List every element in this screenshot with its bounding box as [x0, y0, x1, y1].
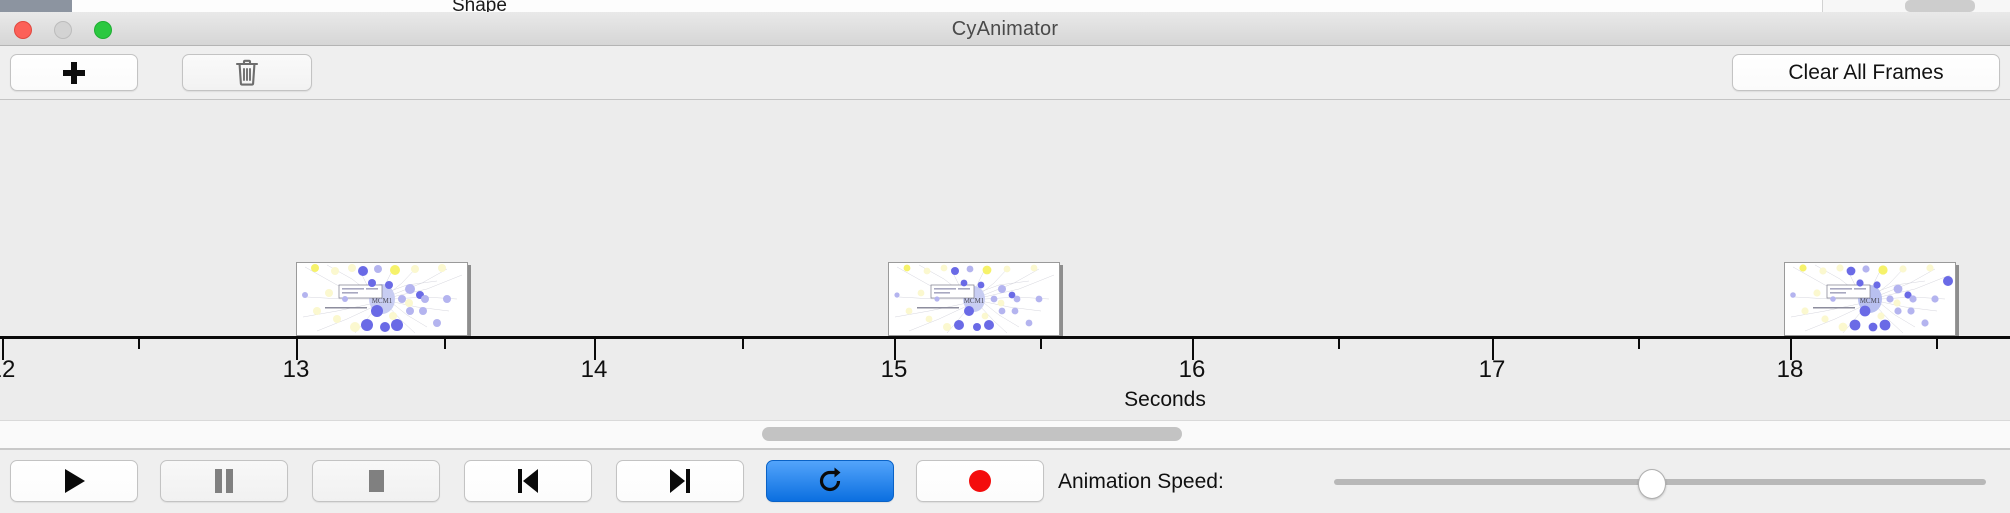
- pause-button[interactable]: [160, 460, 288, 502]
- cyanimator-window: CyAnimator Clear All Frames: [0, 12, 2010, 510]
- background-cell: [732, 0, 923, 12]
- pause-icon: [212, 467, 236, 495]
- timeline-scrollbar[interactable]: [0, 420, 2010, 449]
- toolbar: Clear All Frames: [0, 46, 2010, 100]
- play-icon: [61, 467, 87, 495]
- frame-thumbnail-2[interactable]: MCM1: [888, 262, 1060, 336]
- background-cell: [72, 0, 193, 12]
- skip-forward-icon: [667, 467, 693, 495]
- axis-tick-minor: [138, 339, 140, 349]
- background-cell: [1102, 0, 1283, 12]
- axis-tick-label: 15: [881, 356, 908, 384]
- axis-tick-label: 17: [1479, 356, 1506, 384]
- axis-tick-label: 18: [1777, 356, 1804, 384]
- axis-tick-minor: [444, 339, 446, 349]
- axis-tick-minor: [1638, 339, 1640, 349]
- skip-to-end-button[interactable]: [616, 460, 744, 502]
- axis-title: Seconds: [1124, 388, 1206, 412]
- background-cell: [922, 0, 1103, 12]
- background-scrollbar[interactable]: [1905, 0, 1975, 12]
- record-button[interactable]: [916, 460, 1044, 502]
- animation-speed-label: Animation Speed:: [1058, 470, 1224, 494]
- background-cell: [692, 0, 733, 12]
- add-frame-button[interactable]: [10, 54, 138, 91]
- axis-tick-minor: [1936, 339, 1938, 349]
- trash-icon: [235, 59, 259, 86]
- animation-speed-slider-thumb[interactable]: [1638, 469, 1666, 499]
- axis-tick-label: 13: [283, 356, 310, 384]
- timeline-axis-line: [0, 336, 2010, 339]
- background-cell: [572, 0, 603, 12]
- network-thumbnail-graphic: MCM1: [889, 263, 1059, 335]
- network-thumbnail-graphic: MCM1: [297, 263, 467, 335]
- background-selected-tab: [0, 0, 72, 12]
- stop-button[interactable]: [312, 460, 440, 502]
- background-cell: [1642, 0, 1823, 12]
- background-cell: [1462, 0, 1643, 12]
- network-thumbnail-graphic: MCM1: [1785, 263, 1955, 335]
- stop-icon: [364, 467, 388, 495]
- playback-control-bar: Animation Speed:: [0, 449, 2010, 513]
- axis-tick-label: 14: [581, 356, 608, 384]
- plus-icon: [63, 62, 85, 84]
- play-button[interactable]: [10, 460, 138, 502]
- frame-thumbnail-1[interactable]: MCM1: [296, 262, 468, 336]
- timeline-panel[interactable]: MCM1: [0, 100, 2010, 420]
- delete-frame-button[interactable]: [182, 54, 312, 91]
- axis-tick-label: 12: [0, 356, 15, 384]
- loop-button[interactable]: [766, 460, 894, 502]
- skip-back-icon: [515, 467, 541, 495]
- axis-tick-minor: [742, 339, 744, 349]
- axis-tick-minor: [1338, 339, 1340, 349]
- loop-icon: [816, 467, 844, 495]
- record-icon: [967, 468, 993, 494]
- timeline-scrollbar-thumb[interactable]: [762, 427, 1182, 441]
- axis-tick-label: 16: [1179, 356, 1206, 384]
- background-cell: [1282, 0, 1463, 12]
- background-cell: [602, 0, 693, 12]
- frame-thumbnail-3[interactable]: MCM1: [1784, 262, 1956, 336]
- window-title: CyAnimator: [0, 18, 2010, 41]
- background-cell: [192, 0, 343, 12]
- axis-tick-minor: [1040, 339, 1042, 349]
- clear-all-frames-button[interactable]: Clear All Frames: [1732, 54, 2000, 91]
- skip-to-start-button[interactable]: [464, 460, 592, 502]
- window-titlebar: CyAnimator: [0, 12, 2010, 46]
